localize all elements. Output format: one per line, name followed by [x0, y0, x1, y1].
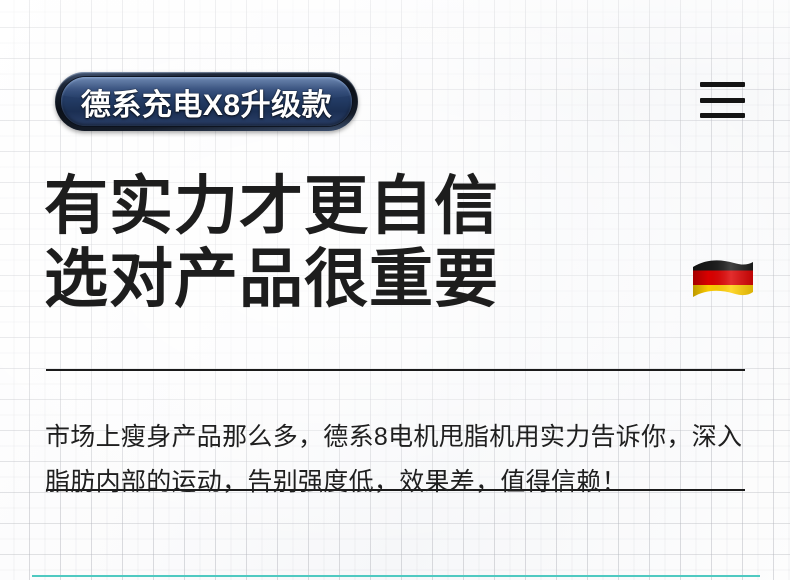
divider-accent	[32, 575, 760, 577]
headline-line-2: 选对产品很重要	[44, 243, 499, 316]
german-flag-icon	[690, 256, 756, 306]
hamburger-menu-icon[interactable]	[700, 82, 745, 118]
product-promo-page: 德系充电X8升级款 有实力才更自信 选对产品很重要	[0, 0, 790, 580]
hamburger-bar-bottom	[700, 113, 745, 118]
hamburger-bar-middle	[700, 98, 745, 103]
product-description: 市场上瘦身产品那么多，德系8电机甩脂机用实力告诉你，深入脂肪内部的运动，告别强度…	[45, 415, 751, 504]
page-headline: 有实力才更自信 选对产品很重要	[44, 170, 499, 316]
product-model-badge[interactable]: 德系充电X8升级款	[55, 72, 358, 131]
badge-label: 德系充电X8升级款	[55, 72, 358, 131]
hamburger-bar-top	[700, 82, 745, 87]
divider-top	[46, 369, 745, 371]
headline-line-1: 有实力才更自信	[44, 170, 499, 243]
